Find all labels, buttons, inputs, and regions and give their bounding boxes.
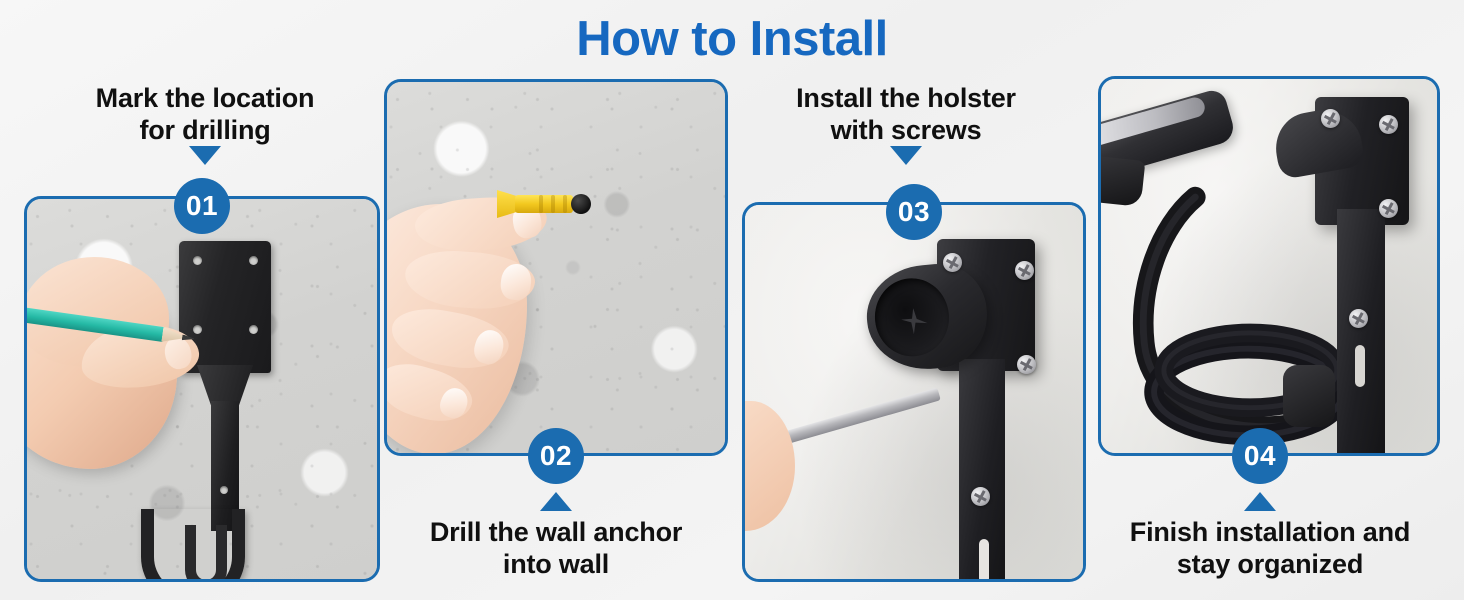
step-2-photo — [387, 82, 725, 453]
anchor-rib-1 — [539, 195, 543, 213]
bracket-hole-top-right — [249, 256, 258, 265]
anchor-rib-2 — [551, 195, 555, 213]
step-3-badge: 03 — [886, 184, 942, 240]
step-3-caption: Install the holster with screws — [736, 82, 1076, 146]
pencil-graphite-tip — [182, 334, 195, 342]
bracket-hole-mid-right — [249, 325, 258, 334]
step-3-card[interactable] — [742, 202, 1086, 582]
socket-pin-slot — [900, 307, 928, 335]
step-1-photo — [27, 199, 377, 579]
step-1-card[interactable] — [24, 196, 380, 582]
cable-hook-holder — [1283, 365, 1335, 427]
step-4-caption-line2: stay organized — [1085, 548, 1455, 580]
screw-middle — [1017, 355, 1036, 374]
step-4-caption-line1: Finish installation and — [1085, 516, 1455, 548]
step-1-caption-line2: for drilling — [30, 114, 380, 146]
screw-lower-arm — [971, 487, 990, 506]
step-2-badge: 02 — [528, 428, 584, 484]
step-4-caption: Finish installation and stay organized — [1085, 516, 1455, 580]
step-3-caption-line1: Install the holster — [736, 82, 1076, 114]
step-3-caption-line2: with screws — [736, 114, 1076, 146]
step-1-caption-line1: Mark the location — [30, 82, 380, 114]
step-4-card[interactable] — [1098, 76, 1440, 456]
screw-middle-right — [1379, 199, 1398, 218]
anchor-rib-3 — [563, 195, 567, 213]
step-3-arrow-down-icon — [890, 146, 922, 165]
step-4-badge: 04 — [1232, 428, 1288, 484]
bracket-hook-inner — [185, 525, 227, 579]
screw-top-left — [1321, 109, 1340, 128]
screw-lower-arm — [1349, 309, 1368, 328]
step-3-photo — [745, 205, 1083, 579]
hand-holding-pencil — [27, 251, 227, 511]
step-1-caption: Mark the location for drilling — [30, 82, 380, 146]
screw-top-left — [943, 253, 962, 272]
step-2-caption-line1: Drill the wall anchor — [381, 516, 731, 548]
bracket-slot — [1355, 345, 1365, 387]
install-guide-infographic: How to Install Mark the location for dri… — [0, 0, 1464, 600]
screw-top-right — [1015, 261, 1034, 280]
anchor-black-tip — [571, 194, 591, 214]
step-1-arrow-down-icon — [189, 146, 221, 165]
bracket-hook-notch — [979, 539, 989, 579]
bracket-arm — [1337, 209, 1385, 453]
step-4-arrow-up-icon — [1244, 492, 1276, 511]
step-2-caption: Drill the wall anchor into wall — [381, 516, 731, 580]
charging-gun-grip — [1101, 153, 1145, 207]
holster-socket — [872, 275, 953, 359]
step-2-card[interactable] — [384, 79, 728, 456]
step-2-arrow-up-icon — [540, 492, 572, 511]
yellow-wall-anchor — [497, 186, 597, 222]
step-4-photo — [1101, 79, 1437, 453]
step-1-badge: 01 — [174, 178, 230, 234]
screw-top-right — [1379, 115, 1398, 134]
page-title: How to Install — [0, 10, 1464, 68]
step-2-caption-line2: into wall — [381, 548, 731, 580]
